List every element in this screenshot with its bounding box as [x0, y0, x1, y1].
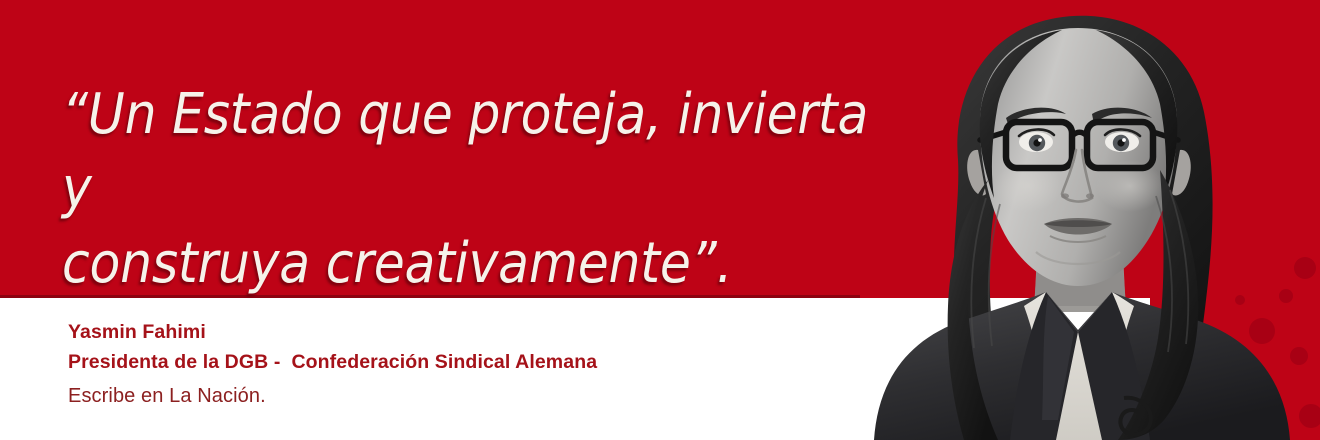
author-source: Escribe en La Nación.: [68, 380, 597, 413]
quote-banner: “Un Estado que proteja, invierta y const…: [0, 0, 1320, 440]
attribution-block: Yasmin Fahimi Presidenta de la DGB - Con…: [68, 318, 597, 413]
pull-quote: “Un Estado que proteja, invierta y const…: [62, 78, 892, 301]
portrait-photo: [860, 0, 1320, 440]
author-role: Presidenta de la DGB - Confederación Sin…: [68, 348, 597, 378]
author-name: Yasmin Fahimi: [68, 318, 597, 348]
